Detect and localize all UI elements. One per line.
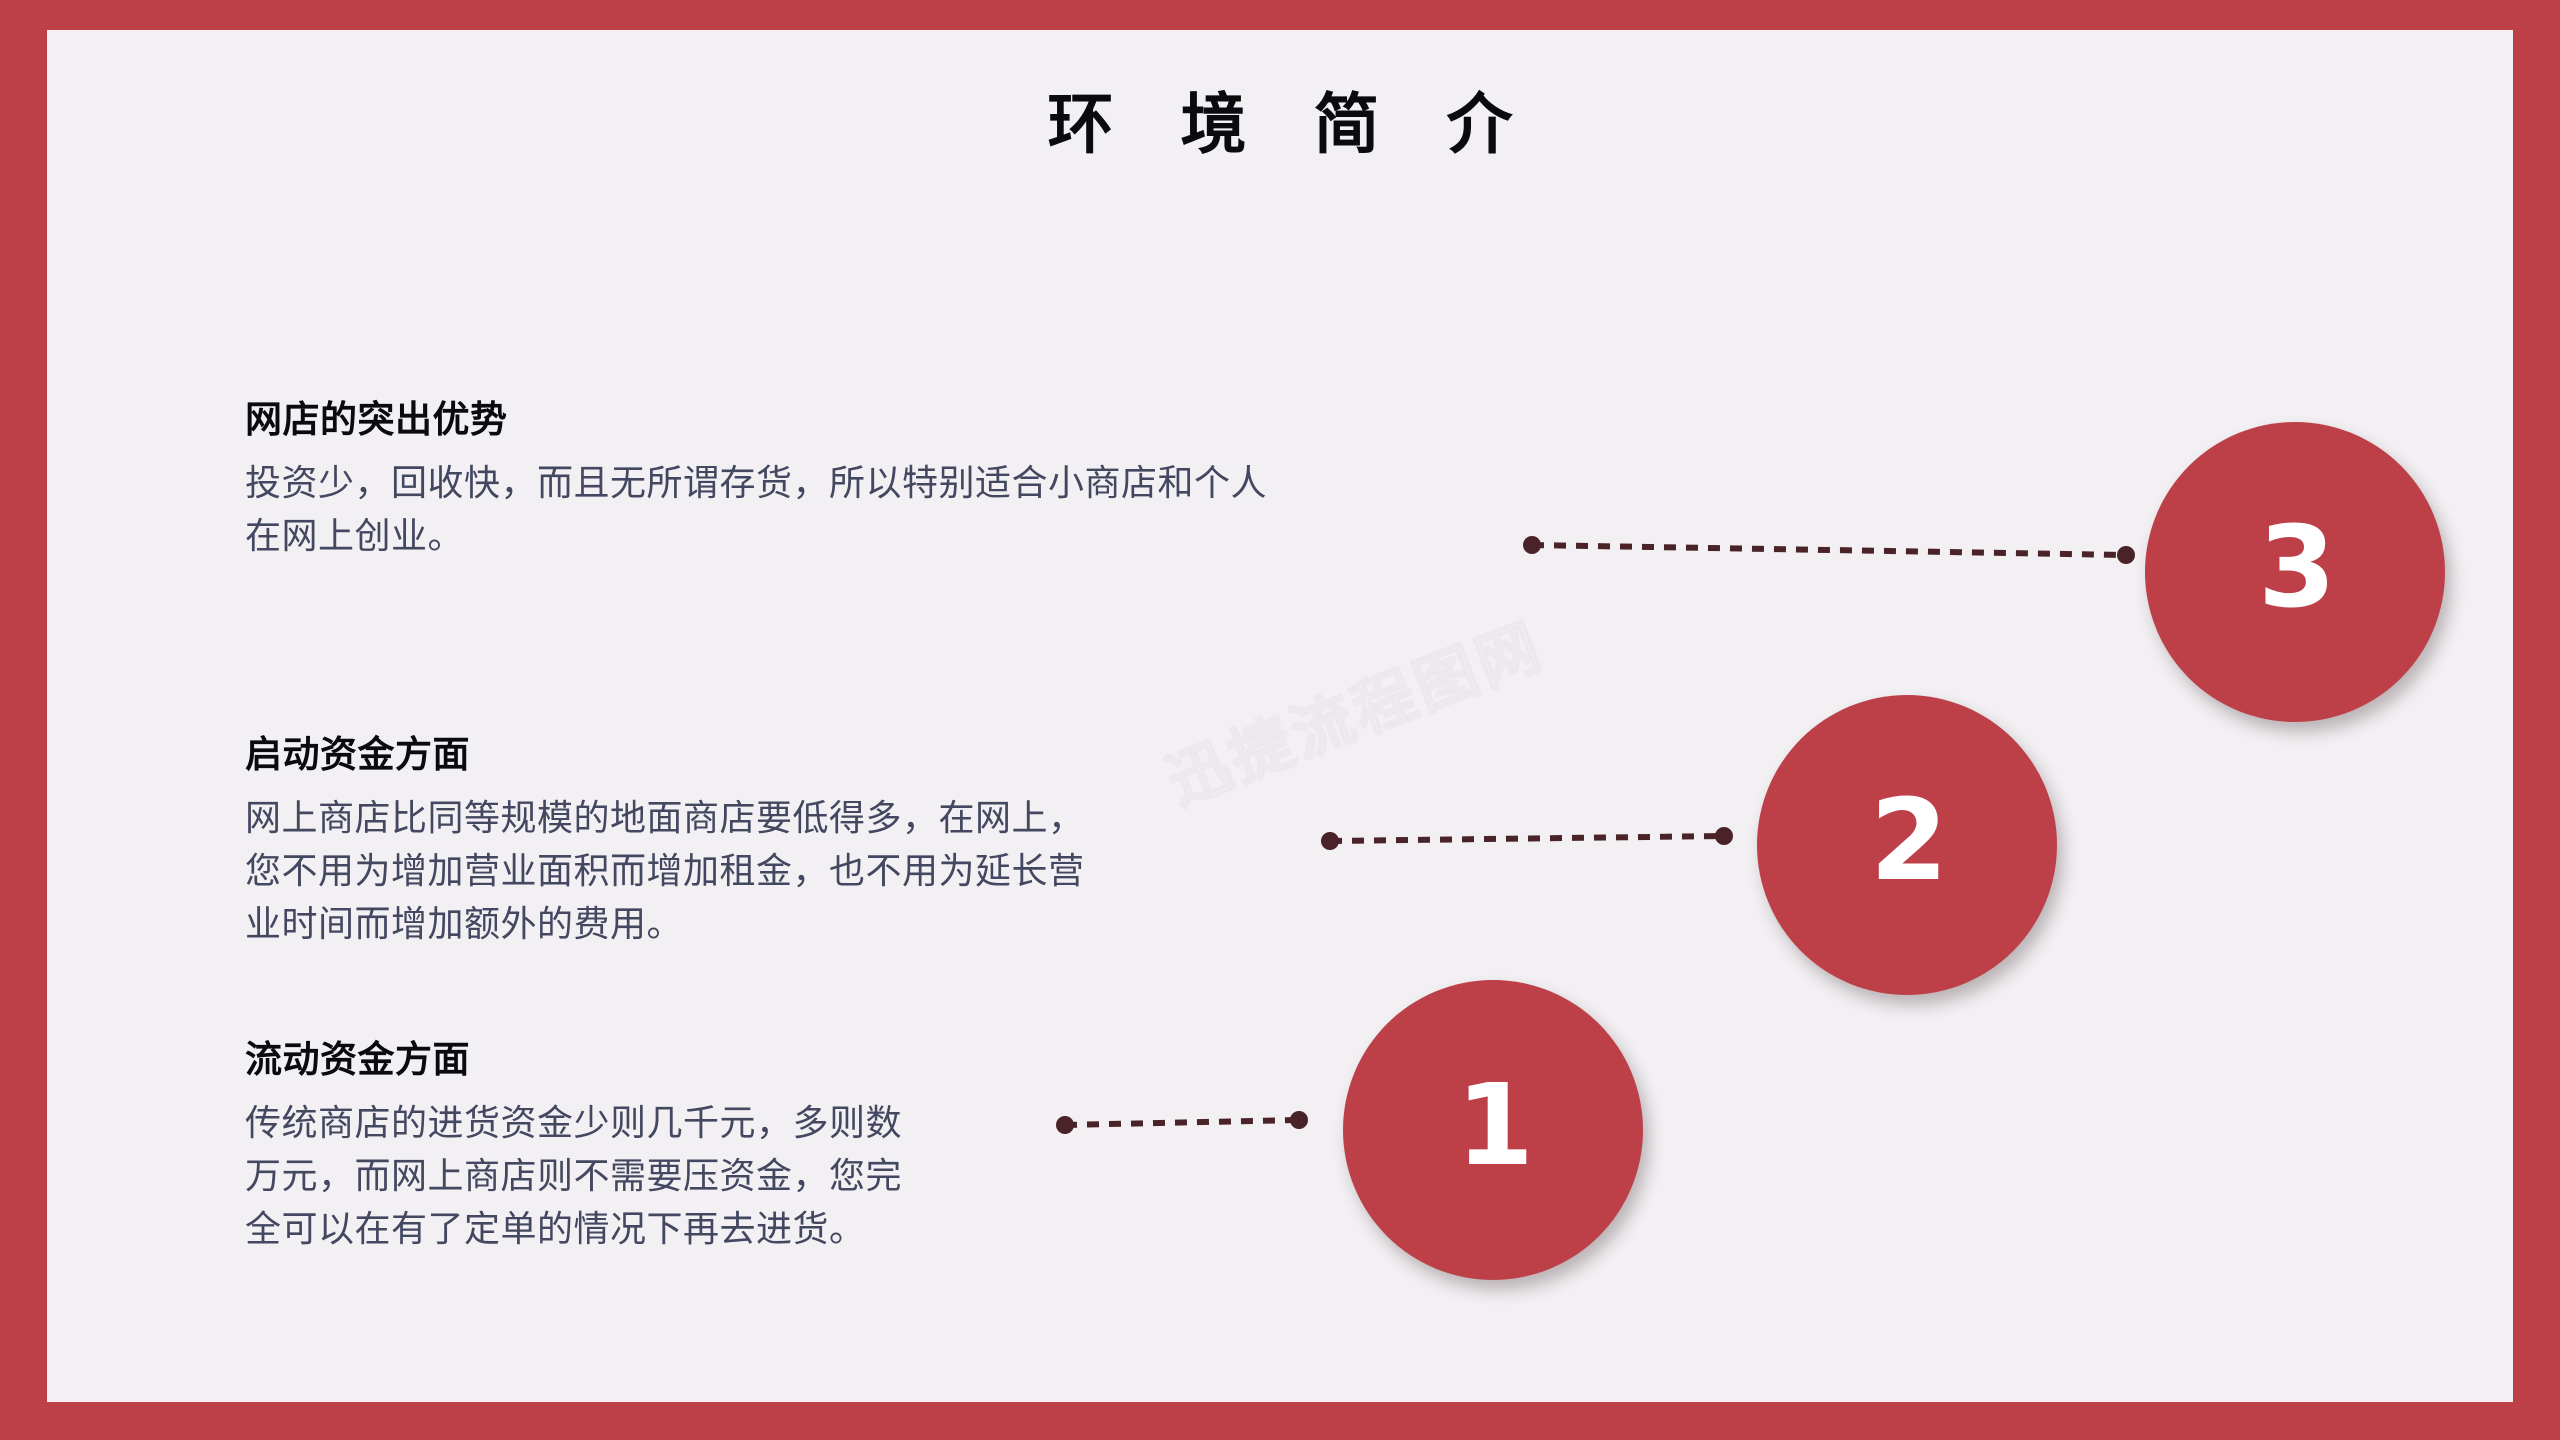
block-1-body: 投资少，回收快，而且无所谓存货，所以特别适合小商店和个人 在网上创业。 xyxy=(245,457,1535,563)
block-2-heading: 启动资金方面 xyxy=(245,735,1405,776)
block-2-body: 网上商店比同等规模的地面商店要低得多，在网上， 您不用为增加营业面积而增加租金，… xyxy=(245,792,1405,951)
connector-2-dash xyxy=(1330,836,1724,841)
content-block-1: 网店的突出优势 投资少，回收快，而且无所谓存货，所以特别适合小商店和个人 在网上… xyxy=(245,400,1535,563)
connector-3-start-dot xyxy=(1523,536,1541,554)
number-marker-1-label: 1 xyxy=(1456,1070,1534,1182)
connector-3-dash xyxy=(1532,545,2126,555)
number-marker-3[interactable]: 3 xyxy=(2145,422,2445,722)
connector-line-3 xyxy=(1524,533,2134,563)
connector-3-end-dot xyxy=(2117,546,2135,564)
connector-1-dash xyxy=(1065,1120,1299,1125)
number-marker-2[interactable]: 2 xyxy=(1757,695,2057,995)
block-1-heading: 网店的突出优势 xyxy=(245,400,1535,441)
connector-2-start-dot xyxy=(1321,832,1339,850)
number-marker-1[interactable]: 1 xyxy=(1343,980,1643,1280)
number-marker-2-label: 2 xyxy=(1870,785,1948,897)
connector-2-end-dot xyxy=(1715,827,1733,845)
content-block-3: 流动资金方面 传统商店的进货资金少则几千元，多则数 万元，而网上商店则不需要压资… xyxy=(245,1040,1305,1256)
block-3-heading: 流动资金方面 xyxy=(245,1040,1305,1081)
content-block-2: 启动资金方面 网上商店比同等规模的地面商店要低得多，在网上， 您不用为增加营业面… xyxy=(245,735,1405,951)
connector-1-end-dot xyxy=(1290,1111,1308,1129)
slide-canvas: 环 境 简 介 迅捷流程图网 网店的突出优势 投资少，回收快，而且无所谓存货，所… xyxy=(47,30,2513,1402)
connector-1-start-dot xyxy=(1056,1116,1074,1134)
page-title: 环 境 简 介 xyxy=(47,92,2513,158)
slide-root: 环 境 简 介 迅捷流程图网 网店的突出优势 投资少，回收快，而且无所谓存货，所… xyxy=(0,0,2560,1440)
connector-line-1 xyxy=(1057,1108,1307,1138)
connector-line-2 xyxy=(1322,823,1732,853)
number-marker-3-label: 3 xyxy=(2258,512,2336,624)
